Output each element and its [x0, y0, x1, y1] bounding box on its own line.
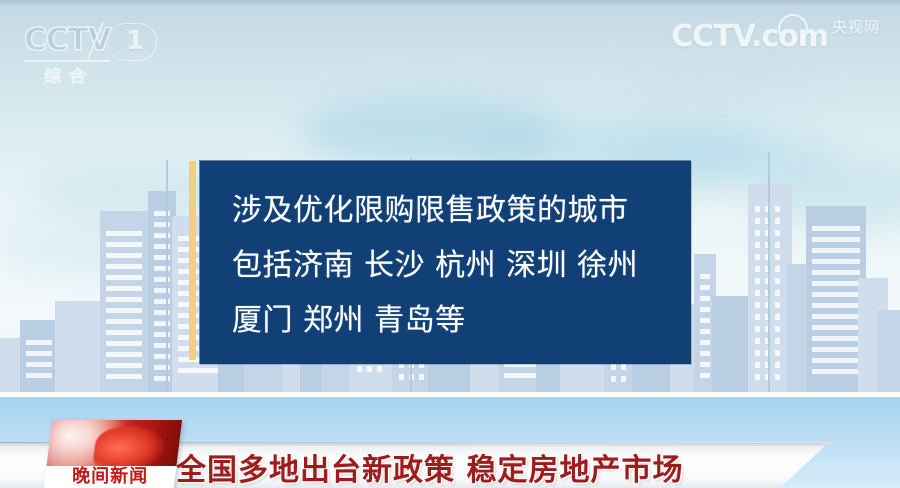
- globe-icon: [47, 420, 183, 466]
- window-row: [106, 286, 142, 291]
- window-cell: [775, 242, 780, 248]
- window-row: [26, 362, 52, 367]
- window-row: [106, 363, 142, 368]
- window-row: [812, 281, 860, 286]
- window-cell: [775, 218, 780, 224]
- antenna-spire: [166, 160, 168, 396]
- window-row: [700, 351, 710, 356]
- window-cell: [775, 350, 780, 356]
- window-row: [106, 374, 142, 379]
- window-row: [812, 347, 860, 352]
- watermark-chinese: 央视网: [832, 20, 880, 35]
- window-cell: [755, 266, 760, 272]
- window-cell: [399, 374, 404, 380]
- window-cell: [775, 314, 780, 320]
- window-cell: [367, 366, 372, 372]
- callout-box: 涉及优化限购限售政策的城市 包括济南 长沙 杭州 深圳 徐州 厦门 郑州 青岛等: [199, 160, 691, 364]
- window-cell: [775, 338, 780, 344]
- building-shape: [100, 211, 148, 396]
- window-row: [700, 329, 710, 334]
- window-cell: [755, 218, 760, 224]
- window-cell: [775, 230, 780, 236]
- window-row: [812, 314, 860, 319]
- building-shape: [878, 310, 900, 396]
- window-row: [106, 275, 142, 280]
- window-row: [504, 373, 536, 378]
- window-row: [812, 336, 860, 341]
- window-cell: [755, 302, 760, 308]
- window-cell: [755, 230, 760, 236]
- channel-logo-text: CCTV: [24, 22, 111, 58]
- window-row: [812, 270, 860, 275]
- window-cell: [611, 364, 616, 370]
- channel-logo: CCTV 1 综合: [22, 24, 154, 78]
- window-cell: [755, 374, 760, 380]
- window-row: [106, 352, 142, 357]
- window-row: [106, 297, 142, 302]
- window-cell: [775, 266, 780, 272]
- window-cell: [419, 374, 424, 380]
- window-row: [106, 341, 142, 346]
- top-edge-band: [0, 0, 900, 5]
- news-headline: 全国多地出台新政策 稳定房地产市场: [176, 446, 683, 488]
- window-cell: [377, 366, 382, 372]
- window-row: [106, 308, 142, 313]
- window-row: [812, 259, 860, 264]
- window-row: [106, 253, 142, 258]
- window-cell: [775, 278, 780, 284]
- ring-icon: [778, 14, 808, 44]
- window-row: [26, 340, 52, 345]
- window-row: [26, 373, 52, 378]
- window-cell: [775, 326, 780, 332]
- window-row: [812, 237, 860, 242]
- cloud-shape: [620, 60, 820, 100]
- window-cell: [755, 350, 760, 356]
- window-cell: [755, 314, 760, 320]
- window-cell: [621, 364, 626, 370]
- window-row: [106, 231, 142, 236]
- window-row: [812, 325, 860, 330]
- window-cell: [775, 302, 780, 308]
- window-cell: [775, 374, 780, 380]
- window-row: [812, 358, 860, 363]
- window-row: [700, 307, 710, 312]
- window-row: [178, 368, 218, 373]
- window-cell: [357, 366, 362, 372]
- callout-line-1: 涉及优化限购限售政策的城市: [232, 183, 681, 238]
- window-row: [106, 242, 142, 247]
- program-label-text: 晚间新闻: [72, 468, 148, 486]
- window-cell: [755, 362, 760, 368]
- window-row: [700, 362, 710, 367]
- window-cell: [775, 362, 780, 368]
- window-cell: [775, 206, 780, 212]
- callout-text-block: 涉及优化限购限售政策的城市 包括济南 长沙 杭州 深圳 徐州 厦门 郑州 青岛等: [232, 183, 681, 348]
- window-row: [812, 369, 860, 374]
- building-shape: [806, 206, 866, 396]
- window-row: [700, 285, 710, 290]
- window-row: [106, 330, 142, 335]
- broadcast-frame: CCTV 1 综合 CCTV.com 央视网 涉及优化限购限售政策的城市 包括济…: [0, 0, 900, 488]
- program-logo: 晚间新闻: [44, 420, 182, 488]
- window-cell: [621, 376, 626, 382]
- window-cell: [755, 278, 760, 284]
- window-cell: [775, 290, 780, 296]
- window-cell: [755, 290, 760, 296]
- callout-accent-bar: [189, 161, 196, 360]
- antenna-spire: [768, 152, 770, 396]
- callout-line-3: 厦门 郑州 青岛等: [232, 293, 681, 348]
- channel-number: 1: [126, 26, 144, 56]
- window-cell: [755, 242, 760, 248]
- window-cell: [755, 338, 760, 344]
- window-row: [812, 303, 860, 308]
- callout-line-2: 包括济南 长沙 杭州 深圳 徐州: [232, 238, 681, 293]
- program-label: 晚间新闻: [44, 466, 177, 488]
- window-cell: [755, 326, 760, 332]
- window-row: [700, 274, 710, 279]
- window-row: [106, 319, 142, 324]
- channel-name: 综合: [44, 62, 94, 87]
- window-row: [700, 340, 710, 345]
- window-row: [106, 264, 142, 269]
- window-cell: [775, 254, 780, 260]
- window-row: [812, 292, 860, 297]
- window-cell: [755, 206, 760, 212]
- site-watermark: CCTV.com 央视网: [671, 20, 880, 52]
- window-row: [700, 318, 710, 323]
- building-shape: [20, 320, 58, 396]
- window-cell: [755, 254, 760, 260]
- window-row: [26, 351, 52, 356]
- window-row: [812, 248, 860, 253]
- window-row: [700, 296, 710, 301]
- window-row: [812, 226, 860, 231]
- window-cell: [611, 376, 616, 382]
- window-row: [700, 373, 710, 378]
